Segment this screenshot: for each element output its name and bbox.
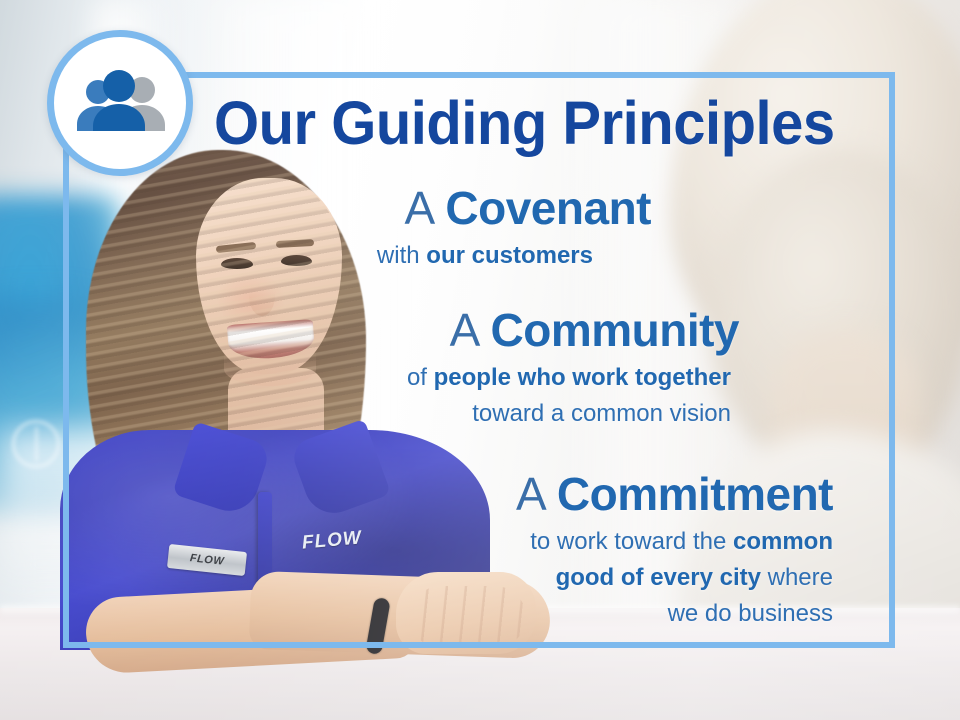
subline-part: where xyxy=(761,564,833,591)
subline-part-bold: good of every city xyxy=(556,564,761,591)
principle-commitment: A Commitment to work toward the common g… xyxy=(63,466,833,630)
principle-subline: good of every city where xyxy=(63,562,833,594)
principle-heading: A Commitment xyxy=(63,466,833,522)
principle-covenant: A Covenant with our customers xyxy=(63,180,651,272)
principle-word: Community xyxy=(491,304,740,356)
principle-subline: toward a common vision xyxy=(63,398,731,430)
people-group-icon-badge xyxy=(47,30,193,176)
subline-part: to work toward the xyxy=(530,528,733,555)
principle-subline: we do business xyxy=(63,598,833,630)
people-group-icon xyxy=(72,70,168,136)
subline-part-bold: common xyxy=(733,528,833,555)
principle-article: A xyxy=(516,468,544,520)
principle-community: A Community of people who work together … xyxy=(63,302,739,430)
principle-subline: to work toward the common xyxy=(63,526,833,558)
principles-list: A Covenant with our customers A Communit… xyxy=(63,178,895,636)
subline-part: toward a common vision xyxy=(472,400,731,427)
principle-heading: A Covenant xyxy=(63,180,651,236)
guiding-principles-poster: FLOW FLOW Our Guiding Princi xyxy=(0,0,960,720)
page-title: Our Guiding Principles xyxy=(214,90,879,156)
subline-part: we do business xyxy=(668,600,833,627)
subline-part-bold: people who work together xyxy=(434,364,731,391)
principle-word: Commitment xyxy=(557,468,833,520)
principle-subline: with our customers xyxy=(63,240,593,272)
subline-part: with xyxy=(377,242,426,269)
principle-article: A xyxy=(450,304,478,356)
subline-part-bold: our customers xyxy=(426,242,593,269)
principle-word: Covenant xyxy=(445,182,651,234)
principle-article: A xyxy=(404,182,432,234)
principle-heading: A Community xyxy=(63,302,739,358)
subline-part: of xyxy=(407,364,434,391)
principle-subline: of people who work together xyxy=(63,362,731,394)
